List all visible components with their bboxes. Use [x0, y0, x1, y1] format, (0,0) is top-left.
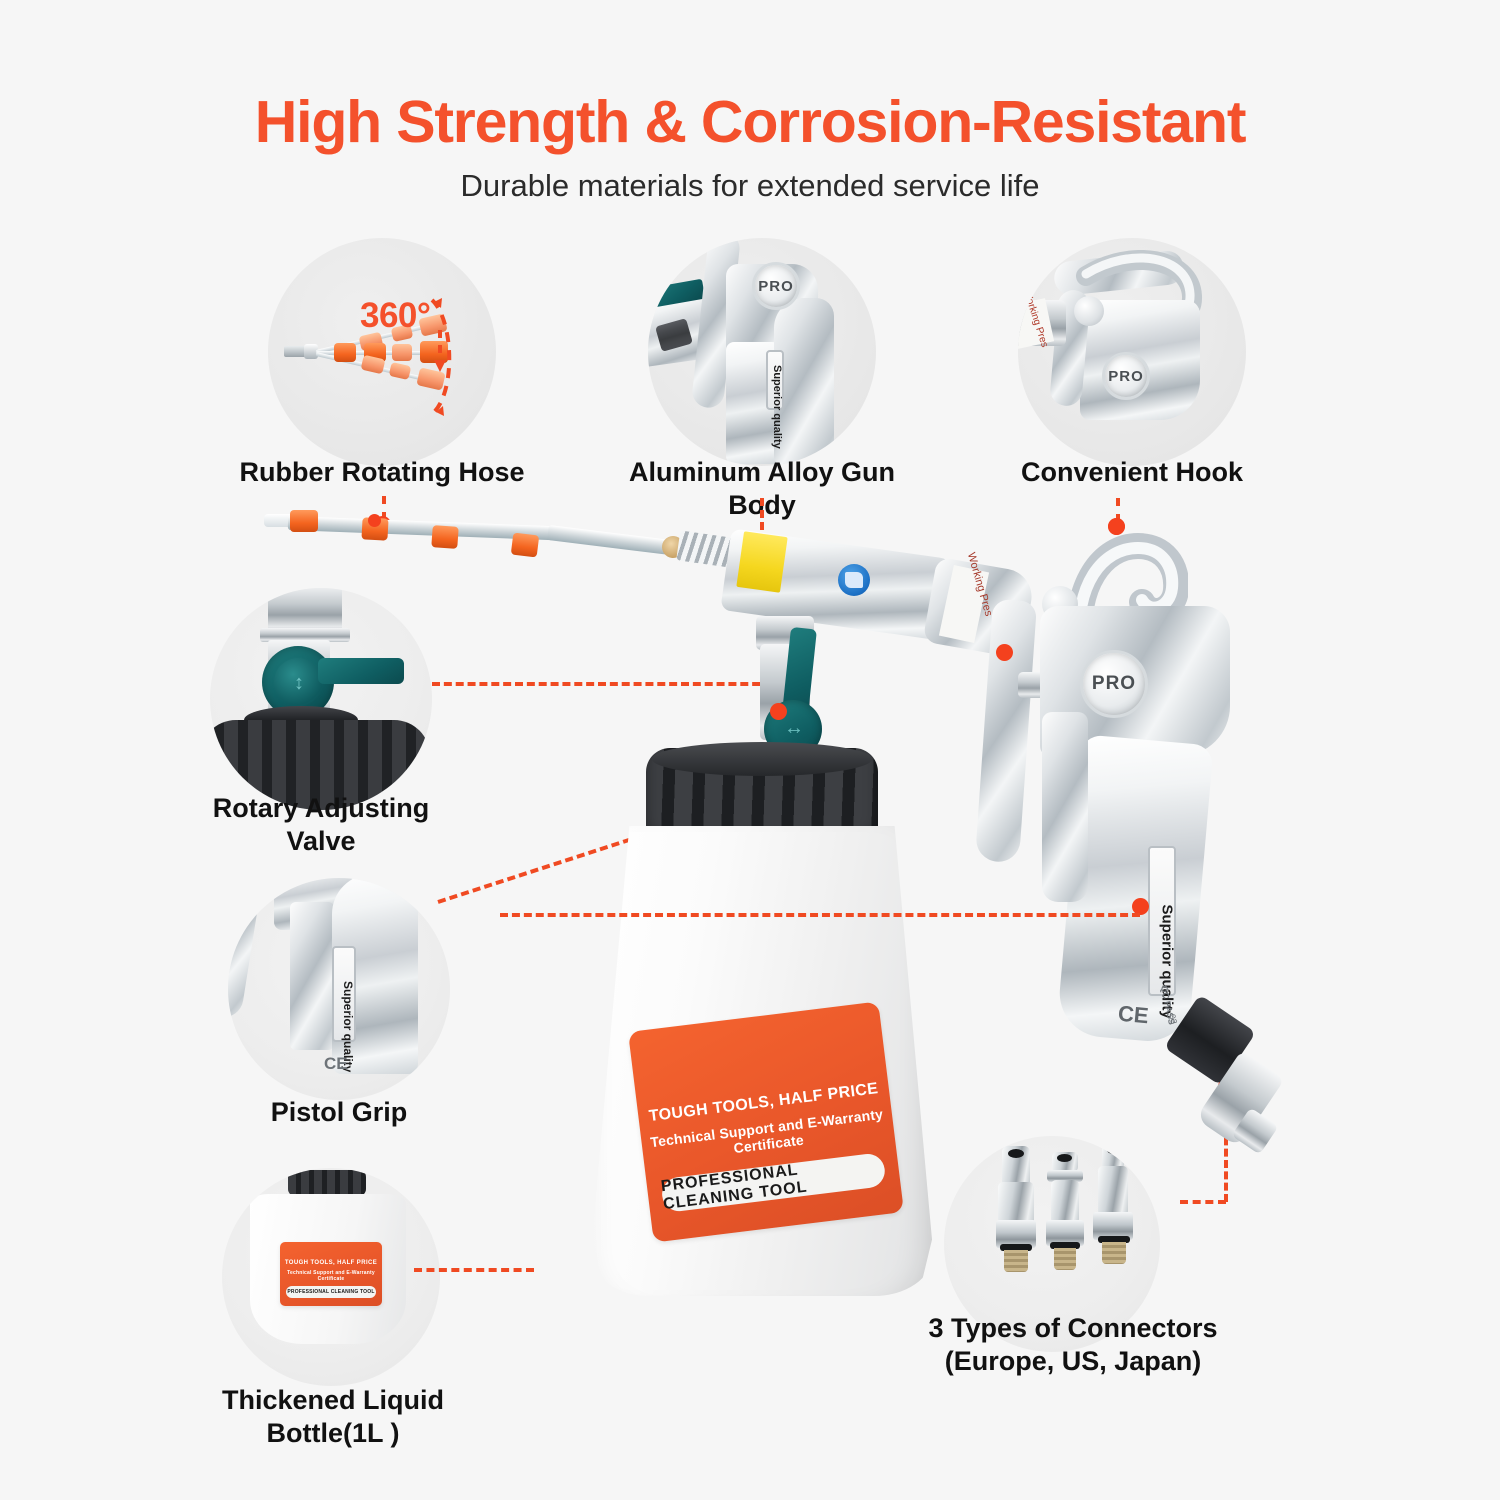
pro-badge-icon: PRO: [1080, 650, 1148, 718]
mini-bottle-cap: [288, 1170, 366, 1196]
gun-barrel: [720, 528, 959, 641]
leader-dot-rotary-adjusting-valve: [770, 703, 787, 720]
air-inlet-tip: [1231, 1107, 1278, 1154]
air-inlet-quick-connector: [1196, 1050, 1285, 1147]
blue-sticker-glyph: [845, 572, 863, 588]
wand-ring-3: [431, 525, 458, 549]
qc-number-text: 03: [1167, 1013, 1179, 1025]
wand-ring-4: [511, 532, 539, 557]
callout-label-line1: Thickened Liquid: [200, 1384, 466, 1417]
leader-line-bottle: [500, 913, 1140, 917]
callout-bubble-thickened-liquid-bottle: TOUGH TOOLS, HALF PRICE Technical Suppor…: [222, 1168, 440, 1386]
leader-line-pistol-grip: [437, 807, 724, 904]
working-pressure-band: [939, 565, 989, 643]
leader-line-connectors-vertical: [1224, 1092, 1228, 1202]
valve-arrow-icon: ↔: [782, 716, 806, 740]
mini-label-line2: Technical Support and E-Warranty Certifi…: [280, 1270, 382, 1282]
grip-superior-quality-plate: Superior quality: [1148, 846, 1176, 996]
leader-line-aluminum-alloy-gun-body: [760, 498, 764, 542]
valve-arrow-icon: ↕: [290, 672, 308, 694]
leader-line-connectors-horizontal: [1180, 1200, 1226, 1204]
blue-certification-sticker: [838, 564, 870, 596]
mini-bottle-label: TOUGH TOOLS, HALF PRICE Technical Suppor…: [280, 1242, 382, 1306]
hose-ring: [334, 343, 356, 362]
callout-label-convenient-hook: Convenient Hook: [1012, 456, 1252, 489]
gun-trigger: [975, 599, 1037, 863]
bottle-label-line2: Technical Support and E-Warranty Certifi…: [641, 1105, 895, 1167]
valve-upper-nut: [756, 616, 814, 650]
callout-bubble-aluminum-alloy-gun-body: PRO Superior quality: [648, 238, 876, 466]
gun-grip-front-strut: [1042, 712, 1088, 902]
leader-line-rotary-adjusting-valve: [432, 682, 772, 686]
callout-label-line1: 3 Types of Connectors: [908, 1312, 1238, 1345]
gun-grip: [1056, 734, 1214, 1044]
grip-closeup-column: [290, 902, 334, 1050]
leader-dot-rubber-rotating-hose: [374, 516, 391, 533]
bottle-cap-top: [652, 742, 872, 776]
grip-superior-quality-text: Superior quality: [1159, 905, 1176, 929]
air-inlet-collar: [1164, 994, 1256, 1085]
leader-dot-convenient-hook: [1108, 518, 1125, 535]
leader-dot-connectors: [1218, 1078, 1235, 1095]
superior-quality-plate: Superior quality: [332, 946, 356, 1042]
wand-tip: [264, 514, 294, 527]
connector-europe: [992, 1146, 1040, 1270]
superior-quality-text: Superior quality: [341, 981, 355, 1001]
valve-stem: [760, 644, 810, 740]
superior-quality-plate: Superior quality: [766, 350, 784, 410]
wand-ring-1: [290, 510, 318, 532]
callout-bubble-pistol-grip: Superior quality CE: [228, 878, 450, 1100]
callout-bubble-rotary-adjusting-valve: ↕: [210, 588, 432, 810]
callout-label-rubber-rotating-hose: Rubber Rotating Hose: [222, 456, 542, 489]
working-pressure-text: Working Pres: [965, 551, 1001, 641]
bottle-label-line1: TOUGH TOOLS, HALF PRICE: [638, 1079, 890, 1128]
leader-dot-pistol-grip: [1132, 898, 1149, 915]
wand-tube: [288, 516, 558, 540]
page-title: High Strength & Corrosion-Resistant: [0, 88, 1500, 156]
rotation-degree-badge: 360°: [360, 296, 430, 336]
callout-label-connectors: 3 Types of Connectors (Europe, US, Japan…: [908, 1312, 1238, 1379]
callout-label-line2: Valve: [190, 825, 452, 858]
gun-neck: [923, 557, 1036, 659]
leader-line-thickened-liquid-bottle: [414, 1268, 534, 1272]
page-subtitle: Durable materials for extended service l…: [0, 168, 1500, 204]
connector-us: [1042, 1152, 1088, 1272]
gun-head: [1040, 606, 1230, 756]
valve-closeup-lever: [318, 658, 404, 684]
wand-thread: [676, 530, 734, 567]
qc-pass-text: QC PASS: [1159, 984, 1177, 1025]
pro-badge-icon: PRO: [1102, 352, 1150, 400]
pro-badge-icon: PRO: [752, 262, 800, 310]
callout-label-rotary-adjusting-valve: Rotary Adjusting Valve: [190, 792, 452, 859]
trigger-pivot-pin: [1042, 586, 1078, 622]
bottle-label-pill: PROFESSIONAL CLEANING TOOL: [660, 1152, 886, 1213]
superior-quality-text: Superior quality: [771, 365, 783, 379]
wand-tube-lower: [547, 525, 678, 556]
callout-label-thickened-liquid-bottle: Thickened Liquid Bottle(1L ): [200, 1384, 466, 1451]
wand-threaded-coupler: [661, 535, 686, 560]
mini-label-pill: PROFESSIONAL CLEANING TOOL: [286, 1286, 376, 1298]
bottle-label: TOUGH TOOLS, HALF PRICE Technical Suppor…: [628, 1001, 904, 1242]
hook-icon: [1058, 528, 1188, 658]
callout-label-line2: (Europe, US, Japan): [908, 1345, 1238, 1378]
bottle-body: [592, 826, 932, 1296]
leader-dot-gun-body: [996, 644, 1013, 661]
callout-bubble-rubber-rotating-hose: 360°: [268, 238, 496, 466]
connector-japan: [1090, 1144, 1136, 1270]
grip-closeup-trigger: [228, 878, 263, 1020]
callout-bubble-convenient-hook: Working Pres PRO: [1018, 238, 1246, 466]
ce-mark-icon: CE: [324, 1054, 348, 1074]
ce-mark-icon: CE: [1117, 1001, 1150, 1030]
callout-label-line2: Bottle(1L ): [200, 1417, 466, 1450]
mini-label-line1: TOUGH TOOLS, HALF PRICE: [280, 1260, 382, 1266]
hook-closeup-pivot: [1074, 296, 1104, 326]
callout-label-line1: Rotary Adjusting: [190, 792, 452, 825]
callout-label-pistol-grip: Pistol Grip: [224, 1096, 454, 1129]
bottle-cap: [646, 748, 878, 846]
infographic-canvas: High Strength & Corrosion-Resistant Dura…: [0, 0, 1500, 1500]
trigger-screw: [1018, 672, 1052, 698]
